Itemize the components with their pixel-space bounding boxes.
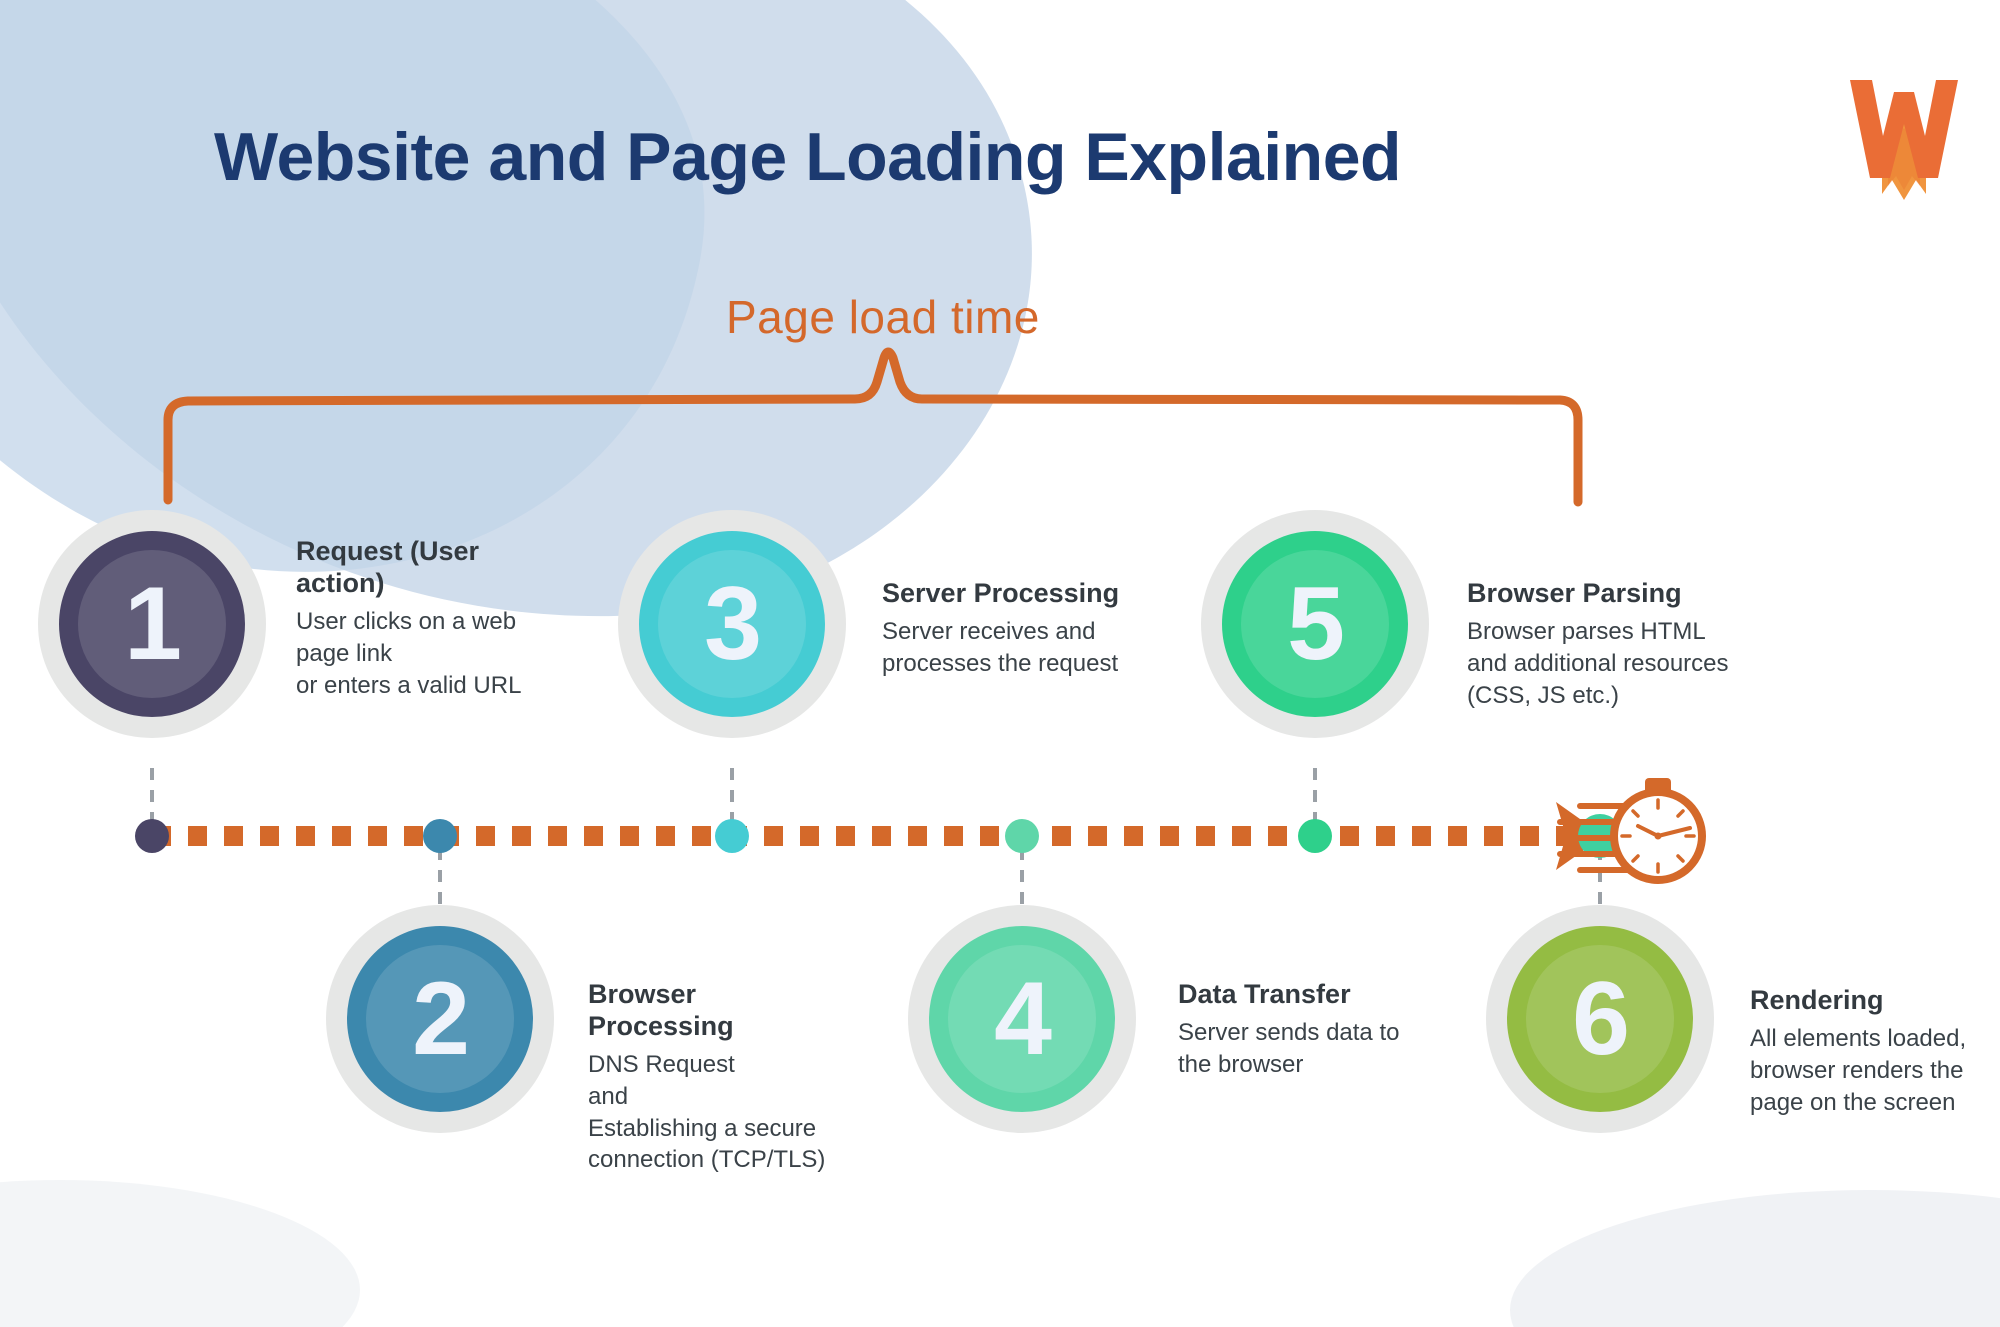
wp-rocket-logo [1848,62,1960,222]
step-6-number: 6 [1572,967,1628,1071]
timeline-node-1 [135,819,169,853]
step-2-number: 2 [412,967,468,1071]
page-title: Website and Page Loading Explained [214,118,1401,196]
brace-path [168,352,1578,502]
step-2-circle[interactable]: 2 [326,905,554,1133]
step-3-text: Server Processing Server receives and pr… [882,578,1182,680]
blob-bottom-left [0,1180,360,1327]
stopwatch-motion-lines [1560,806,1656,870]
step-2-title: Browser Processing [588,979,888,1043]
step-1-circle-fill: 1 [59,531,245,717]
header: Website and Page Loading Explained [0,0,2000,260]
step-1-desc: User clicks on a web page link or enters… [296,606,576,702]
step-1-title: Request (User action) [296,536,576,600]
step-2-circle-fill: 2 [347,926,533,1112]
step-1-text: Request (User action) User clicks on a w… [296,536,576,701]
step-1-number: 1 [124,572,180,676]
step-4-circle-fill: 4 [929,926,1115,1112]
timeline-node-3 [715,819,749,853]
step-2-text: Browser Processing DNS Request and Estab… [588,979,888,1176]
timeline-node-6 [1578,814,1622,858]
step-4-number: 4 [994,967,1050,1071]
timeline-node-2 [423,819,457,853]
timeline-node-4 [1005,819,1039,853]
step-5-title: Browser Parsing [1467,578,1787,610]
step-2-desc: DNS Request and Establishing a secure co… [588,1049,888,1177]
step-3-desc: Server receives and processes the reques… [882,616,1182,680]
step-6-desc: All elements loaded, browser renders the… [1750,1023,2000,1119]
step-6-title: Rendering [1750,985,2000,1017]
step-5-desc: Browser parses HTML and additional resou… [1467,616,1787,712]
timeline-arrowhead [1556,802,1604,870]
step-3-title: Server Processing [882,578,1182,610]
timeline-node-5 [1298,819,1332,853]
step-6-text: Rendering All elements loaded, browser r… [1750,985,2000,1119]
step-3-circle-fill: 3 [639,531,825,717]
stopwatch-icon [1614,778,1702,880]
step-1-circle[interactable]: 1 [38,510,266,738]
step-5-number: 5 [1287,572,1343,676]
step-6-circle-fill: 6 [1507,926,1693,1112]
blob-bottom-right [1510,1190,2000,1327]
step-5-circle-fill: 5 [1222,531,1408,717]
step-6-circle[interactable]: 6 [1486,905,1714,1133]
step-3-number: 3 [704,572,760,676]
step-4-text: Data Transfer Server sends data to the b… [1178,979,1458,1081]
step-4-title: Data Transfer [1178,979,1458,1011]
step-4-desc: Server sends data to the browser [1178,1017,1458,1081]
step-5-text: Browser Parsing Browser parses HTML and … [1467,578,1787,712]
page-load-time-label: Page load time [726,290,1040,344]
step-3-circle[interactable]: 3 [618,510,846,738]
step-5-circle[interactable]: 5 [1201,510,1429,738]
step-4-circle[interactable]: 4 [908,905,1136,1133]
